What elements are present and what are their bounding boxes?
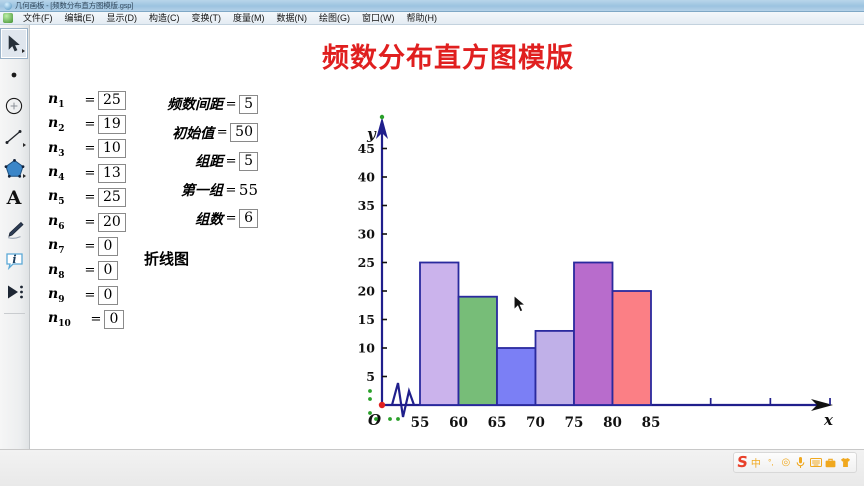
parameter-label-n1: n1 bbox=[48, 91, 82, 110]
menu-measure[interactable]: 度量(M) bbox=[227, 12, 271, 25]
polyline-chart-button[interactable]: 折线图 bbox=[144, 248, 189, 269]
arrow-tool-expand-icon[interactable] bbox=[22, 49, 25, 53]
equals-sign: = bbox=[223, 183, 239, 198]
straightedge-line-tool[interactable] bbox=[0, 121, 28, 152]
tool-separator bbox=[4, 313, 25, 314]
circle-icon bbox=[4, 96, 24, 116]
point-tool[interactable] bbox=[0, 59, 28, 90]
y-tick-label-40: 40 bbox=[358, 170, 376, 185]
parameter-label-n9: n9 bbox=[48, 286, 82, 305]
parameter-value-n7[interactable]: 0 bbox=[98, 237, 118, 256]
frequency-parameter-list: n1 = 25 n2 = 19 n3 = 10 n4 = 13 n5 = 25 … bbox=[48, 88, 126, 332]
parameter-value-start-value[interactable]: 50 bbox=[230, 123, 258, 142]
parameter-label-n4: n4 bbox=[48, 164, 82, 183]
settings-parameter-list: 频数间距 = 5 初始值 = 50 组距 = 5 第一组 = 55 组数 = 6 bbox=[140, 90, 258, 233]
mouse-pointer bbox=[513, 295, 529, 315]
y-tick-label-20: 20 bbox=[358, 284, 376, 299]
document-icon bbox=[3, 13, 13, 23]
parameter-row-n8[interactable]: n8 = 0 bbox=[48, 259, 126, 283]
parameter-label-n3: n3 bbox=[48, 140, 82, 159]
histogram-bar-65-70[interactable] bbox=[497, 348, 536, 405]
parameter-row-n2[interactable]: n2 = 19 bbox=[48, 112, 126, 136]
menu-edit[interactable]: 编辑(E) bbox=[59, 12, 101, 25]
menu-display[interactable]: 显示(D) bbox=[101, 12, 144, 25]
parameter-value-n3[interactable]: 10 bbox=[98, 139, 126, 158]
ime-toolbar[interactable]: S 中 °, ◎ bbox=[733, 452, 857, 473]
parameter-label-frequency-spacing: 频数间距 bbox=[167, 94, 223, 114]
x-tick-label-85: 85 bbox=[642, 415, 661, 431]
parameter-label-class-width: 组距 bbox=[195, 151, 223, 171]
origin-point bbox=[379, 402, 385, 408]
equals-sign: = bbox=[223, 154, 239, 169]
menu-transform[interactable]: 变换(T) bbox=[186, 12, 228, 25]
line-tool-expand-icon[interactable] bbox=[23, 143, 26, 147]
tool-palette: A i bbox=[0, 25, 30, 486]
equals-sign: = bbox=[82, 117, 98, 132]
parameter-value-n4[interactable]: 13 bbox=[98, 164, 126, 183]
selection-dot-2 bbox=[368, 411, 372, 415]
x-axis-label: x bbox=[823, 411, 834, 429]
y-tick-label-30: 30 bbox=[358, 227, 376, 242]
parameter-value-n9[interactable]: 0 bbox=[98, 286, 118, 305]
text-tool[interactable]: A bbox=[0, 183, 28, 214]
equals-sign: = bbox=[214, 125, 230, 140]
y-tick-label-10: 10 bbox=[358, 341, 376, 356]
equals-sign: = bbox=[82, 166, 98, 181]
arrow-icon bbox=[7, 35, 22, 53]
point-icon bbox=[7, 68, 21, 82]
ime-voice-input[interactable] bbox=[794, 454, 808, 471]
tshirt-icon bbox=[840, 457, 851, 468]
parameter-row-n7[interactable]: n7 = 0 bbox=[48, 234, 126, 258]
parameter-label-n5: n5 bbox=[48, 188, 82, 207]
menu-construct[interactable]: 构造(C) bbox=[143, 12, 186, 25]
parameter-label-n6: n6 bbox=[48, 213, 82, 232]
parameter-label-first-group: 第一组 bbox=[181, 180, 223, 200]
keyboard-icon bbox=[810, 458, 822, 467]
parameter-label-group-count: 组数 bbox=[195, 209, 223, 229]
parameter-value-group-count[interactable]: 6 bbox=[239, 209, 258, 228]
selection-dot-4 bbox=[388, 417, 392, 421]
y-tick-label-45: 45 bbox=[358, 141, 375, 156]
parameter-value-frequency-spacing[interactable]: 5 bbox=[239, 95, 258, 114]
toolbox-icon bbox=[825, 457, 836, 468]
axis-break-zigzag-icon bbox=[392, 383, 414, 417]
x-tick-label-60: 60 bbox=[449, 415, 468, 431]
selection-dot-0 bbox=[368, 389, 372, 393]
polygon-tool-expand-icon[interactable] bbox=[23, 174, 26, 178]
parameter-row-n9[interactable]: n9 = 0 bbox=[48, 283, 126, 307]
menu-data[interactable]: 数据(N) bbox=[271, 12, 314, 25]
sketchpad-window: 几何画板 - [频数分布直方图模版.gsp] 文件(F) 编辑(E) 显示(D)… bbox=[0, 0, 864, 486]
pentagon-icon bbox=[4, 158, 25, 178]
histogram-bar-80-85[interactable] bbox=[613, 291, 652, 405]
equals-sign: = bbox=[88, 312, 104, 327]
letter-a-icon: A bbox=[7, 189, 22, 208]
histogram-bar-70-75[interactable] bbox=[536, 331, 575, 405]
parameter-row-class-width[interactable]: 组距 = 5 bbox=[140, 147, 258, 176]
ime-emoji[interactable]: ◎ bbox=[779, 454, 793, 471]
microphone-icon bbox=[796, 456, 805, 469]
parameter-row-n1[interactable]: n1 = 25 bbox=[48, 88, 126, 112]
parameter-value-class-width[interactable]: 5 bbox=[239, 152, 258, 171]
parameter-row-n4[interactable]: n4 = 13 bbox=[48, 161, 126, 185]
svg-text:i: i bbox=[12, 253, 16, 266]
histogram-bar-55-60[interactable] bbox=[420, 263, 459, 406]
equals-sign: = bbox=[82, 93, 98, 108]
y-tick-label-15: 15 bbox=[358, 312, 375, 327]
parameter-value-first-group: 55 bbox=[239, 181, 258, 199]
custom-tool[interactable] bbox=[0, 276, 28, 307]
equals-sign: = bbox=[82, 215, 98, 230]
window-title: 几何画板 - [频数分布直方图模版.gsp] bbox=[15, 0, 133, 11]
y-tick-label-25: 25 bbox=[358, 255, 375, 270]
page-title: 频数分布直方图模版 bbox=[268, 36, 628, 75]
histogram-chart[interactable]: yxO5101520253035404555606570758085 bbox=[330, 95, 850, 435]
selection-dot-3 bbox=[374, 417, 378, 421]
equals-sign: = bbox=[82, 141, 98, 156]
y-tick-label-35: 35 bbox=[358, 198, 375, 213]
app-icon bbox=[4, 2, 12, 10]
equals-sign: = bbox=[82, 263, 98, 278]
menu-file[interactable]: 文件(F) bbox=[17, 12, 59, 25]
parameter-label-n10: n10 bbox=[48, 310, 88, 329]
parameter-row-n5[interactable]: n5 = 25 bbox=[48, 186, 126, 210]
sogou-logo-icon[interactable]: S bbox=[736, 455, 748, 470]
parameter-value-n10[interactable]: 0 bbox=[104, 310, 124, 329]
parameter-row-first-group[interactable]: 第一组 = 55 bbox=[140, 176, 258, 205]
ime-punctuation-toggle[interactable]: °, bbox=[764, 454, 778, 471]
x-tick-label-55: 55 bbox=[411, 415, 430, 431]
info-balloon-icon: i bbox=[4, 251, 25, 271]
menu-help[interactable]: 帮助(H) bbox=[401, 12, 444, 25]
menu-graph[interactable]: 绘图(G) bbox=[313, 12, 356, 25]
parameter-row-n6[interactable]: n6 = 20 bbox=[48, 210, 126, 234]
play-triangle-icon bbox=[4, 283, 25, 301]
parameter-row-start-value[interactable]: 初始值 = 50 bbox=[140, 119, 258, 148]
ime-soft-keyboard[interactable] bbox=[809, 454, 823, 471]
selection-dot-1 bbox=[368, 397, 372, 401]
ime-toolbox[interactable] bbox=[824, 454, 838, 471]
parameter-row-group-count[interactable]: 组数 = 6 bbox=[140, 204, 258, 233]
marker-pen-tool[interactable] bbox=[0, 214, 28, 245]
x-tick-label-75: 75 bbox=[565, 415, 584, 431]
parameter-value-n5[interactable]: 25 bbox=[98, 188, 126, 207]
equals-sign: = bbox=[82, 239, 98, 254]
arrow-select-tool[interactable] bbox=[0, 28, 28, 59]
parameter-label-n2: n2 bbox=[48, 115, 82, 134]
polygon-tool[interactable] bbox=[0, 152, 28, 183]
histogram-svg: yxO5101520253035404555606570758085 bbox=[330, 95, 850, 435]
x-tick-label-80: 80 bbox=[603, 415, 622, 431]
equals-sign: = bbox=[223, 211, 239, 226]
ime-chinese-mode[interactable]: 中 bbox=[749, 454, 763, 471]
pencil-icon bbox=[4, 220, 25, 240]
parameter-row-frequency-spacing[interactable]: 频数间距 = 5 bbox=[140, 90, 258, 119]
parameter-value-n8[interactable]: 0 bbox=[98, 261, 118, 280]
x-tick-label-70: 70 bbox=[526, 415, 545, 431]
menu-bar: 文件(F) 编辑(E) 显示(D) 构造(C) 变换(T) 度量(M) 数据(N… bbox=[0, 12, 864, 25]
equals-sign: = bbox=[223, 97, 239, 112]
equals-sign: = bbox=[82, 288, 98, 303]
histogram-bar-60-65[interactable] bbox=[459, 297, 498, 405]
y-tick-label-5: 5 bbox=[366, 369, 375, 384]
parameter-value-n2[interactable]: 19 bbox=[98, 115, 126, 134]
ime-skin[interactable] bbox=[839, 454, 853, 471]
selection-dot-5 bbox=[396, 417, 400, 421]
parameter-label-start-value: 初始值 bbox=[172, 123, 214, 143]
parameter-value-n1[interactable]: 25 bbox=[98, 91, 126, 110]
title-bar: 几何画板 - [频数分布直方图模版.gsp] bbox=[0, 0, 864, 12]
parameter-label-n8: n8 bbox=[48, 262, 82, 281]
parameter-value-n6[interactable]: 20 bbox=[98, 213, 126, 232]
compass-circle-tool[interactable] bbox=[0, 90, 28, 121]
line-icon bbox=[4, 128, 24, 146]
equals-sign: = bbox=[82, 190, 98, 205]
parameter-row-n10[interactable]: n10 = 0 bbox=[48, 308, 126, 332]
x-tick-label-65: 65 bbox=[488, 415, 507, 431]
information-tool[interactable]: i bbox=[0, 245, 28, 276]
menu-window[interactable]: 窗口(W) bbox=[356, 12, 401, 25]
y-axis-endpoint bbox=[380, 115, 384, 119]
parameter-row-n3[interactable]: n3 = 10 bbox=[48, 137, 126, 161]
histogram-bar-75-80[interactable] bbox=[574, 263, 613, 406]
parameter-label-n7: n7 bbox=[48, 237, 82, 256]
